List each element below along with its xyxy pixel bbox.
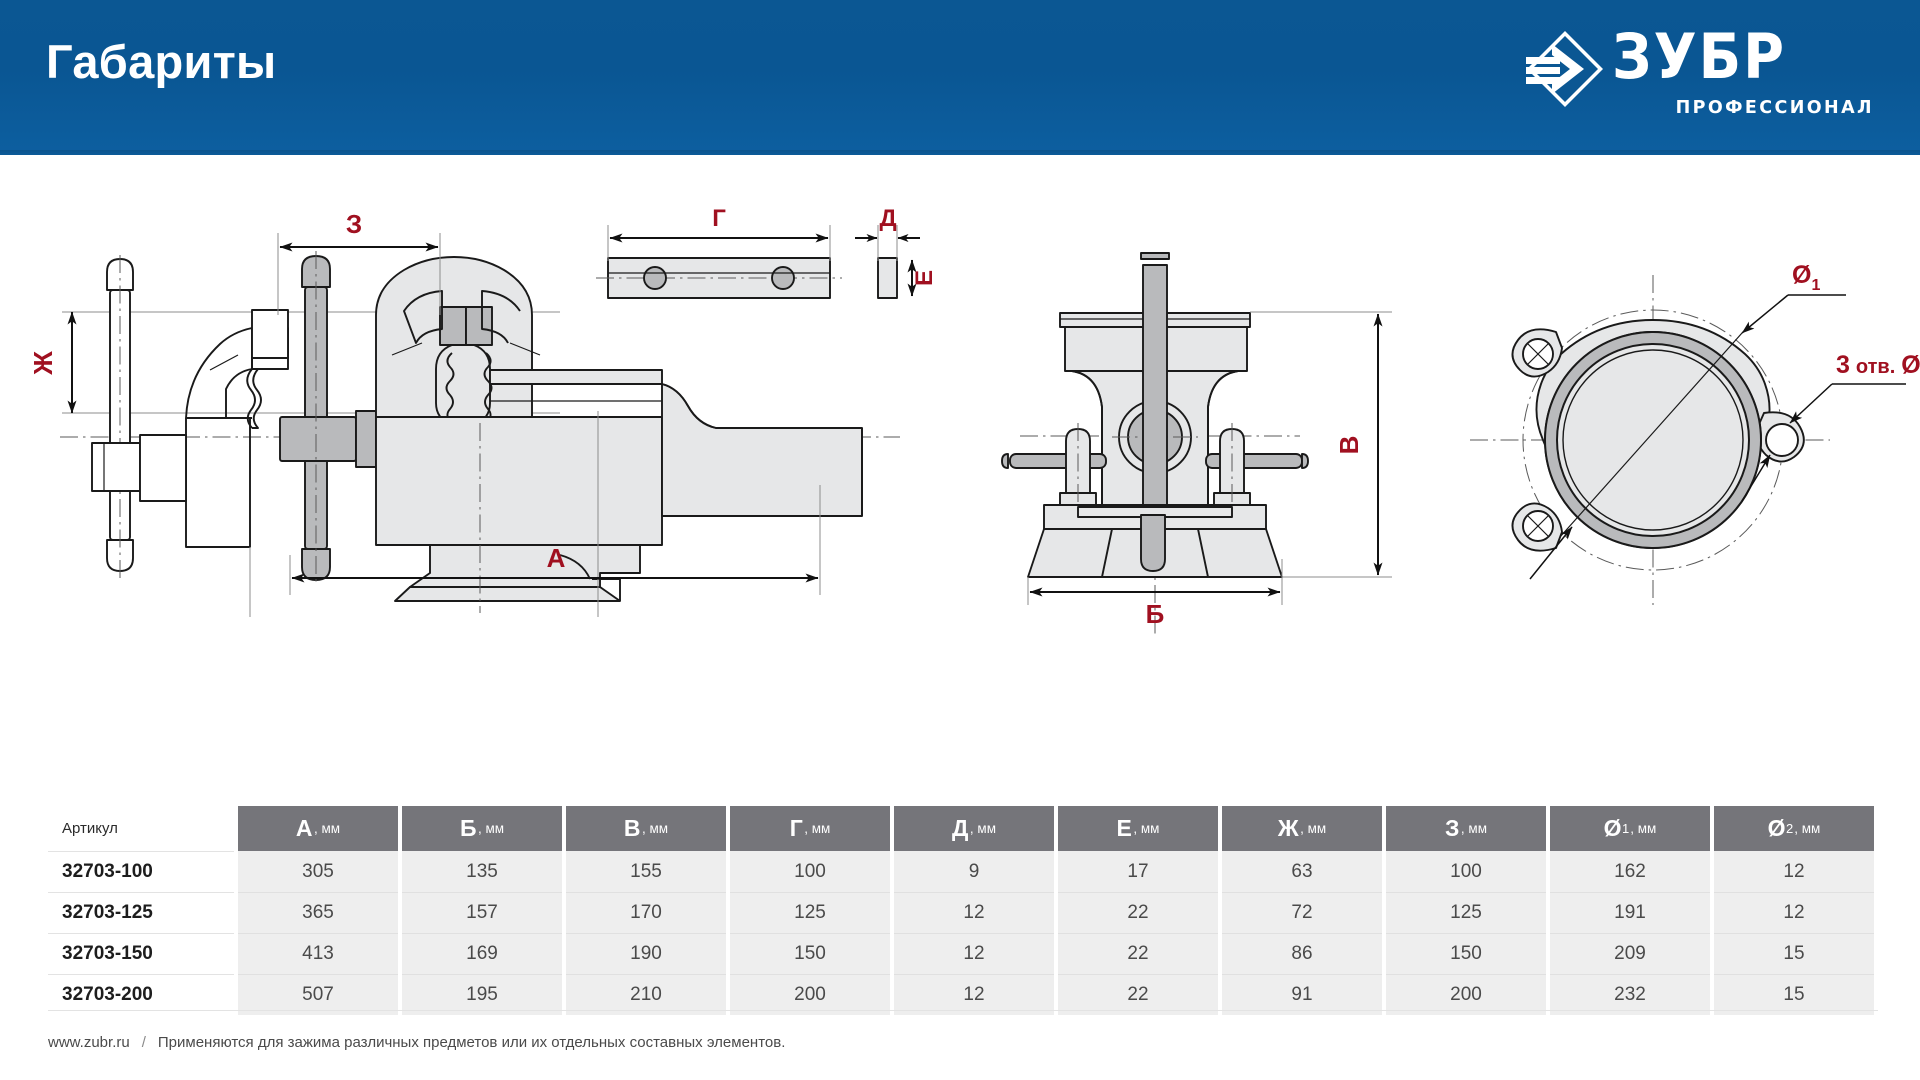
dimension-d: Д <box>855 205 920 261</box>
column-header-article: Артикул <box>48 806 234 851</box>
cell-v: 170 <box>566 892 726 933</box>
column-header-d1: Ø1, мм <box>1550 806 1710 851</box>
column-header-a: А, мм <box>238 806 398 851</box>
page-title: Габариты <box>46 38 277 85</box>
cell-zh: 63 <box>1222 851 1382 892</box>
cell-v: 210 <box>566 974 726 1015</box>
table-row[interactable]: 32703-150 413 169 190 150 12 22 86 150 2… <box>48 933 1878 974</box>
column-header-zh: Ж, мм <box>1222 806 1382 851</box>
column-header-b: Б, мм <box>402 806 562 851</box>
specifications-table: Артикул А, мм Б, мм В, мм Г, мм Д, мм Е,… <box>48 806 1878 1011</box>
footer-separator: / <box>142 1034 146 1051</box>
dimension-v: В <box>1250 312 1392 577</box>
dimension-e: Е <box>911 260 938 296</box>
cell-d: 9 <box>894 851 1054 892</box>
cell-z: 200 <box>1386 974 1546 1015</box>
dimension-label-v: В <box>1334 436 1364 455</box>
dimension-zh: Ж <box>28 312 72 413</box>
vise-body <box>376 257 862 617</box>
brand-tagline: ПРОФЕССИОНАЛ <box>1676 100 1874 118</box>
cell-zh: 91 <box>1222 974 1382 1015</box>
column-header-z: З, мм <box>1386 806 1546 851</box>
column-header-v: В, мм <box>566 806 726 851</box>
cell-article: 32703-125 <box>48 892 234 933</box>
brand-wordmark: ЗУБР <box>1612 26 1786 88</box>
mounting-hole-top-left <box>1523 339 1553 369</box>
table-bottom-rule <box>48 1010 1878 1011</box>
column-header-g: Г, мм <box>730 806 890 851</box>
dimension-label-a: А <box>547 543 566 573</box>
dimension-label-holes: 3отв.Ø2 <box>1836 351 1920 384</box>
table-header-row: Артикул А, мм Б, мм В, мм Г, мм Д, мм Е,… <box>48 806 1878 851</box>
cell-z: 100 <box>1386 851 1546 892</box>
cell-g: 100 <box>730 851 890 892</box>
technical-drawing: .ol{fill:none;stroke:#1a1a1a;stroke-widt… <box>0 155 1920 795</box>
dimension-label-e: Е <box>911 270 938 286</box>
screw-bearing-left <box>92 435 186 501</box>
cell-v: 190 <box>566 933 726 974</box>
cell-d: 12 <box>894 892 1054 933</box>
cell-e: 22 <box>1058 892 1218 933</box>
table-row[interactable]: 32703-200 507 195 210 200 12 22 91 200 2… <box>48 974 1878 1015</box>
cell-z: 125 <box>1386 892 1546 933</box>
column-header-d2: Ø2, мм <box>1714 806 1874 851</box>
mounting-hole-right <box>1766 424 1798 456</box>
cell-a: 305 <box>238 851 398 892</box>
cell-g: 150 <box>730 933 890 974</box>
cell-a: 413 <box>238 933 398 974</box>
front-view: В Б <box>1002 253 1392 635</box>
dimension-label-b: Б <box>1146 599 1165 629</box>
jaw-plate-detail: Г Д Е <box>596 205 938 298</box>
footer-site-link[interactable]: www.zubr.ru <box>48 1034 130 1051</box>
dimension-label-d: Д <box>879 205 896 232</box>
swivel-base-view: Ø1 3отв.Ø2 <box>1470 261 1920 605</box>
cell-d2: 15 <box>1714 974 1874 1015</box>
cell-e: 22 <box>1058 974 1218 1015</box>
mounting-hole-bottom-left <box>1523 511 1553 541</box>
cell-d1: 162 <box>1550 851 1710 892</box>
cell-g: 125 <box>730 892 890 933</box>
vise-drawing-svg: .ol{fill:none;stroke:#1a1a1a;stroke-widt… <box>0 155 1920 795</box>
cell-d1: 191 <box>1550 892 1710 933</box>
table-row[interactable]: 32703-100 305 135 155 100 9 17 63 100 16… <box>48 851 1878 892</box>
column-header-e: Е, мм <box>1058 806 1218 851</box>
cell-e: 17 <box>1058 851 1218 892</box>
handle-rod-main <box>280 251 376 585</box>
cell-b: 169 <box>402 933 562 974</box>
dimension-label-z: З <box>346 209 362 239</box>
cell-article: 32703-200 <box>48 974 234 1015</box>
page-footer: www.zubr.ru/Применяются для зажима разли… <box>48 1034 785 1051</box>
column-header-d: Д, мм <box>894 806 1054 851</box>
cell-a: 507 <box>238 974 398 1015</box>
cell-article: 32703-150 <box>48 933 234 974</box>
cell-zh: 86 <box>1222 933 1382 974</box>
cell-z: 150 <box>1386 933 1546 974</box>
cell-v: 155 <box>566 851 726 892</box>
cell-a: 365 <box>238 892 398 933</box>
cell-d1: 209 <box>1550 933 1710 974</box>
brand-logo: ЗУБР ПРОФЕССИОНАЛ <box>1526 28 1876 128</box>
cell-article: 32703-100 <box>48 851 234 892</box>
handle-rod-left <box>107 255 133 580</box>
zubr-diamond-icon <box>1526 30 1604 108</box>
footer-description: Применяются для зажима различных предмет… <box>158 1034 786 1051</box>
cell-d1: 232 <box>1550 974 1710 1015</box>
cell-g: 200 <box>730 974 890 1015</box>
dimension-label-d1: Ø1 <box>1792 261 1820 294</box>
cell-d: 12 <box>894 933 1054 974</box>
cell-b: 157 <box>402 892 562 933</box>
cell-e: 22 <box>1058 933 1218 974</box>
dimension-label-g: Г <box>712 205 726 232</box>
cell-d2: 12 <box>1714 892 1874 933</box>
dimension-g: Г <box>608 205 830 261</box>
cell-b: 135 <box>402 851 562 892</box>
cell-d2: 15 <box>1714 933 1874 974</box>
table-row[interactable]: 32703-125 365 157 170 125 12 22 72 125 1… <box>48 892 1878 933</box>
cell-zh: 72 <box>1222 892 1382 933</box>
cell-b: 195 <box>402 974 562 1015</box>
dimension-label-zh: Ж <box>28 351 58 376</box>
page-header: Габариты ЗУБР ПРОФЕССИОНАЛ <box>0 0 1920 155</box>
vise-rear-outline <box>186 310 288 547</box>
cell-d: 12 <box>894 974 1054 1015</box>
cell-d2: 12 <box>1714 851 1874 892</box>
